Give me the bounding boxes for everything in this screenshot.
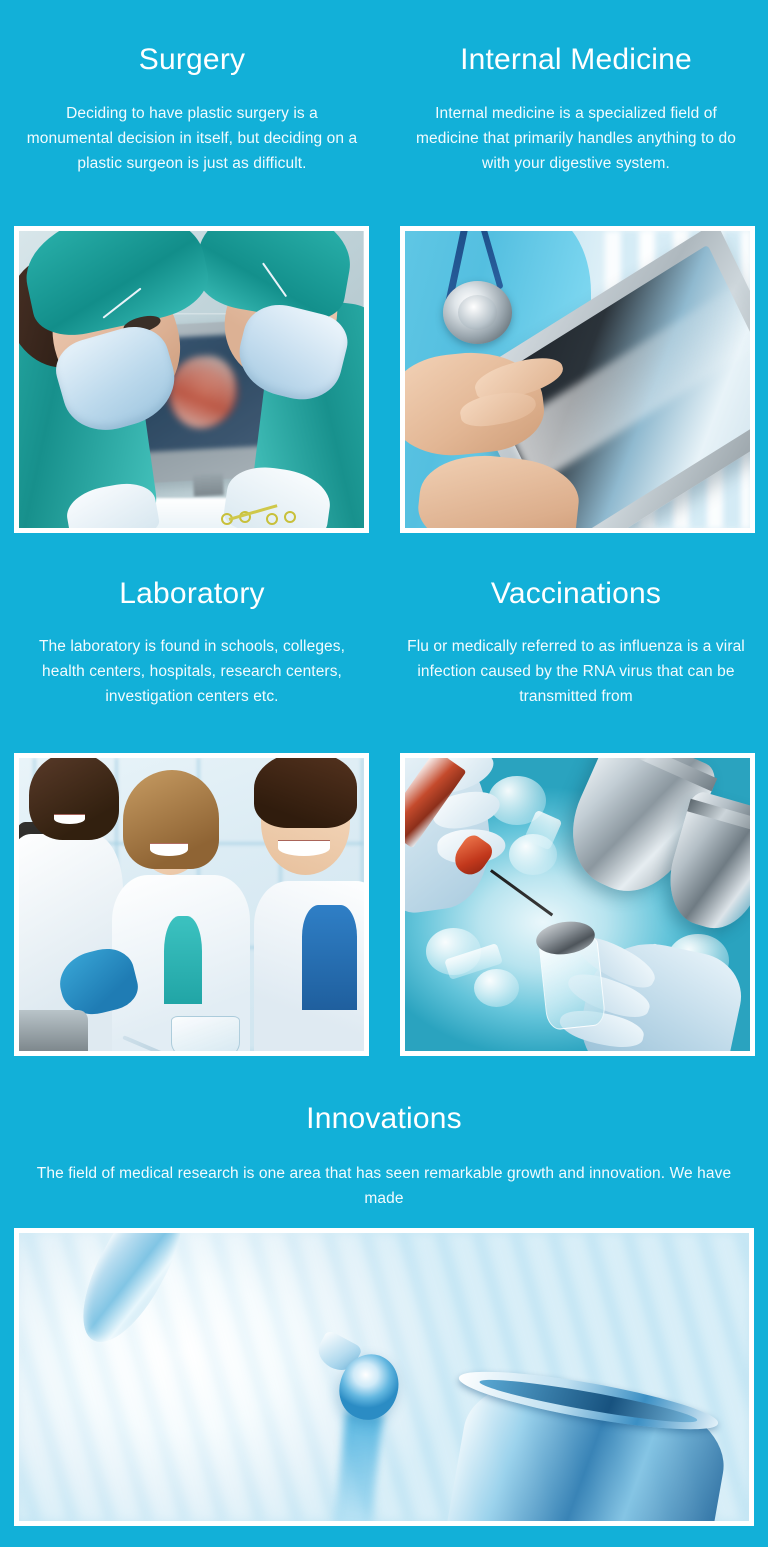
card-image-frame-surgery[interactable] [14, 226, 369, 533]
card-image-frame-vaccinations[interactable] [400, 753, 755, 1056]
scientist-center-top [164, 916, 202, 1004]
card-image-frame-laboratory[interactable] [14, 753, 369, 1056]
service-card-surgery[interactable]: Surgery Deciding to have plastic surgery… [0, 41, 384, 176]
scientist-back-left-smile [54, 814, 85, 824]
card-image-internal-medicine [405, 231, 750, 528]
card-title-vaccinations: Vaccinations [406, 575, 746, 613]
card-title-internal-medicine: Internal Medicine [406, 41, 746, 79]
scientist-right-smile [278, 840, 330, 856]
scientist-right-hair [254, 758, 358, 828]
card-image-vaccinations [405, 758, 750, 1051]
card-description-surgery: Deciding to have plastic surgery is a mo… [22, 101, 362, 176]
service-card-vaccinations[interactable]: Vaccinations Flu or medically referred t… [384, 575, 768, 709]
card-image-laboratory [19, 758, 364, 1051]
medical-services-page: Surgery Deciding to have plastic surgery… [0, 0, 768, 1547]
card-description-laboratory: The laboratory is found in schools, coll… [22, 634, 362, 709]
card-description-vaccinations: Flu or medically referred to as influenz… [406, 634, 746, 709]
scientist-right-shirt [302, 905, 357, 1010]
card-description-innovations: The field of medical research is one are… [34, 1161, 734, 1211]
surgical-scissors-icon [219, 492, 309, 525]
scientist-back-left-hair [29, 758, 119, 840]
card-image-innovations [19, 1233, 749, 1521]
service-card-laboratory[interactable]: Laboratory The laboratory is found in sc… [0, 575, 384, 709]
microscope-base [19, 1010, 88, 1051]
stethoscope-chestpiece [443, 281, 512, 343]
syringe-needle [491, 870, 554, 917]
service-card-innovations[interactable]: Innovations The field of medical researc… [0, 1100, 768, 1211]
molecule-sphere [474, 969, 519, 1007]
lab-flask [171, 1016, 240, 1051]
card-image-surgery [19, 231, 364, 528]
card-description-internal-medicine: Internal medicine is a specialized field… [406, 101, 746, 176]
services-row-2: Laboratory The laboratory is found in sc… [0, 575, 768, 709]
service-card-internal-medicine[interactable]: Internal Medicine Internal medicine is a… [384, 41, 768, 176]
card-image-frame-internal-medicine[interactable] [400, 226, 755, 533]
services-row-1: Surgery Deciding to have plastic surgery… [0, 41, 768, 176]
card-title-innovations: Innovations [0, 1100, 768, 1138]
card-title-laboratory: Laboratory [22, 575, 362, 613]
card-image-frame-innovations[interactable] [14, 1228, 754, 1526]
card-title-surgery: Surgery [22, 41, 362, 79]
